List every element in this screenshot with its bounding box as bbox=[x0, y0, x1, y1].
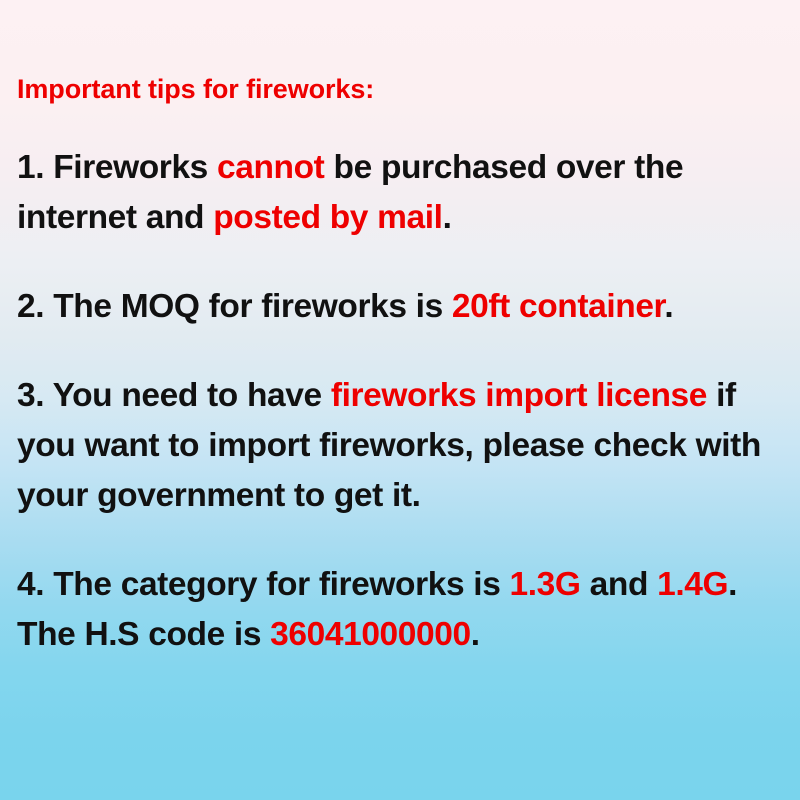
tip-4-highlight-2: 1.4G bbox=[657, 566, 728, 603]
tip-4-text-1: The category for fireworks is bbox=[44, 566, 509, 603]
tip-4-number: 4. bbox=[17, 566, 44, 603]
tip-item-3: 3. You need to have fireworks import lic… bbox=[17, 332, 783, 521]
tip-4-text-4: . bbox=[471, 616, 480, 653]
tip-1-highlight-2: posted by mail bbox=[213, 199, 442, 236]
tip-1-highlight-1: cannot bbox=[217, 149, 324, 186]
tip-2-highlight-1: 20ft container bbox=[452, 288, 664, 325]
tip-item-1: 1. Fireworks cannot be purchased over th… bbox=[17, 106, 783, 243]
tip-item-2: 2. The MOQ for fireworks is 20ft contain… bbox=[17, 243, 783, 332]
tip-1-text-3: . bbox=[443, 199, 452, 236]
tip-1-text-1: Fireworks bbox=[44, 149, 217, 186]
tip-2-text-1: The MOQ for fireworks is bbox=[44, 288, 452, 325]
tip-3-highlight-1: fireworks import license bbox=[331, 377, 707, 414]
tip-item-4: 4. The category for fireworks is 1.3G an… bbox=[17, 521, 783, 660]
tip-4-highlight-3: 36041000000 bbox=[270, 616, 471, 653]
tip-3-text-1: You need to have bbox=[44, 377, 331, 414]
tip-2-number: 2. bbox=[17, 288, 44, 325]
fireworks-tips-poster: Important tips for fireworks: 1. Firewor… bbox=[0, 0, 800, 800]
tip-1-number: 1. bbox=[17, 149, 44, 186]
poster-title: Important tips for fireworks: bbox=[17, 0, 783, 106]
tip-3-number: 3. bbox=[17, 377, 44, 414]
poster-content: Important tips for fireworks: 1. Firewor… bbox=[17, 0, 783, 660]
tip-4-text-2: and bbox=[581, 566, 658, 603]
tip-4-highlight-1: 1.3G bbox=[510, 566, 581, 603]
tip-2-text-2: . bbox=[664, 288, 673, 325]
